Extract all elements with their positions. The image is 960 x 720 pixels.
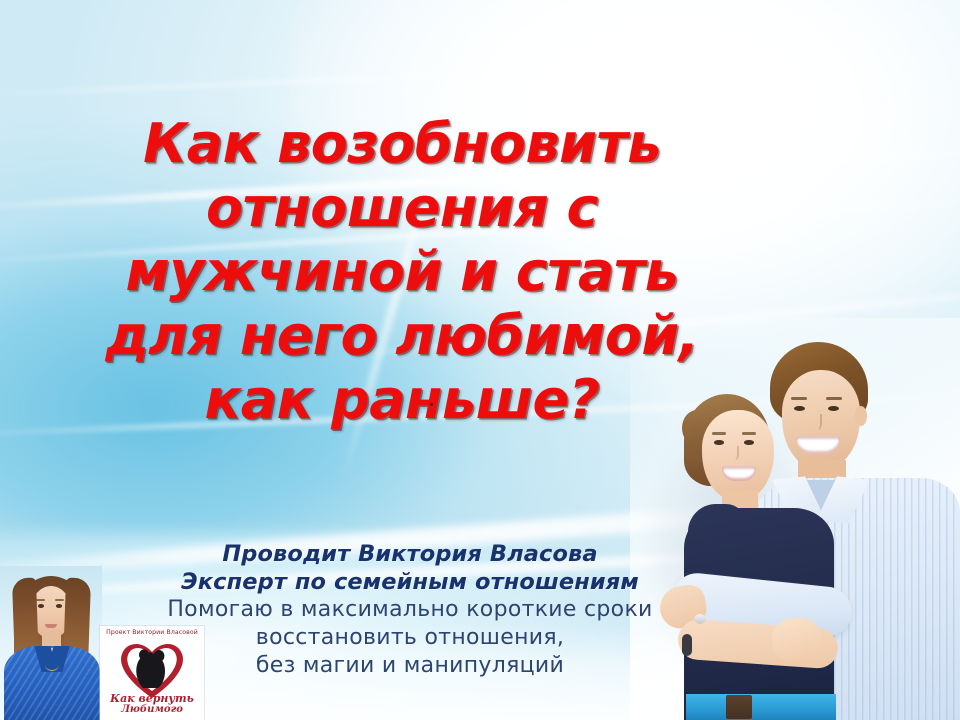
presenter-eye (38, 604, 44, 608)
presenter-name: Проводит Виктория Власова (120, 540, 700, 568)
title-line-1: Как возобновить (52, 112, 752, 176)
woman-nose (728, 446, 739, 460)
heart-icon (116, 638, 188, 700)
man-eye (794, 406, 805, 411)
logo-slogan: Как вернуть Любимого (100, 693, 204, 716)
promise-line-1: Помогаю в максимально короткие сроки (120, 596, 700, 624)
man-eyebrow (826, 397, 842, 400)
presenter-eye (56, 604, 62, 608)
title-line-3: мужчиной и стать (52, 240, 752, 304)
woman-eye (744, 440, 754, 445)
title-line-4: для него любимой, (52, 304, 752, 368)
woman-belt-buckle (726, 695, 752, 719)
logo-slogan-line-2: Любимого (100, 704, 204, 716)
slide-title: Как возобновить отношения с мужчиной и с… (52, 112, 752, 432)
man-eye (828, 406, 839, 411)
title-line-2: отношения с (52, 176, 752, 240)
man-ear (855, 406, 867, 426)
man-nose (810, 414, 822, 430)
brand-logo: Проект Виктории Власовой Как вернуть Люб… (100, 626, 204, 720)
presenter-photo (0, 566, 102, 720)
presenter-info: Проводит Виктория Власова Эксперт по сем… (120, 540, 700, 680)
man-eyebrow (791, 397, 807, 400)
presenter-eyebrow (36, 599, 45, 601)
promise-line-3: без магии и манипуляций (120, 652, 700, 680)
woman-eyebrow (742, 432, 756, 435)
promise-line-2: восстановить отношения, (120, 624, 700, 652)
woman-eyebrow (712, 432, 726, 435)
title-line-5: как раньше? (52, 368, 752, 432)
woman-eye (714, 440, 724, 445)
logo-project-text: Проект Виктории Власовой (100, 629, 204, 636)
presenter-necklace (45, 658, 59, 671)
presenter-eyebrow (55, 599, 64, 601)
promo-slide: Как возобновить отношения с мужчиной и с… (0, 0, 960, 720)
presenter-role: Эксперт по семейным отношениям (120, 568, 700, 596)
man-smile (796, 436, 840, 454)
woman-belt (686, 694, 836, 720)
image-artifact-dot (430, 403, 433, 406)
